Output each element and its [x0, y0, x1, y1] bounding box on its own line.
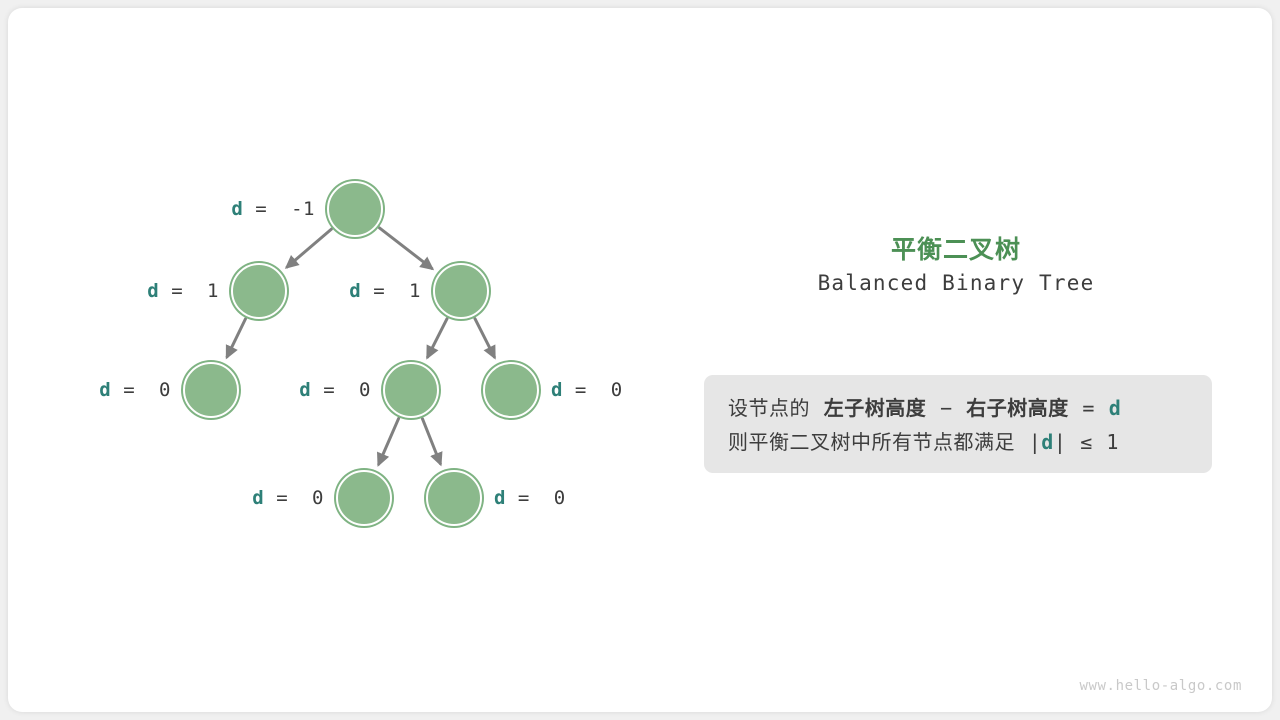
node-balance-factor-label: d = 1: [147, 282, 219, 301]
constraint-prefix: 则平衡二叉树中所有节点都满足: [728, 430, 1015, 454]
tree-node[interactable]: [433, 263, 489, 319]
node-label-variable: d: [349, 280, 361, 302]
panel-subtitle: Balanced Binary Tree: [700, 271, 1212, 295]
node-label-variable: d: [299, 379, 311, 401]
tree-node[interactable]: [426, 470, 482, 526]
less-equal-sign: ≤: [1080, 430, 1093, 454]
node-label-variable: d: [551, 379, 563, 401]
node-label-equals: =: [171, 280, 183, 302]
node-label-variable: d: [147, 280, 159, 302]
d-variable-2: d: [1041, 430, 1054, 454]
node-balance-factor-label: d = 0: [252, 489, 324, 508]
tree-node[interactable]: [231, 263, 287, 319]
d-variable-1: d: [1109, 396, 1122, 420]
definition-prefix: 设节点的: [728, 396, 810, 420]
panel-title: 平衡二叉树: [700, 230, 1212, 266]
node-label-variable: d: [252, 487, 264, 509]
node-label-value: 0: [312, 487, 324, 509]
description-panel: 平衡二叉树 Balanced Binary Tree 设节点的 左子树高度 − …: [700, 8, 1272, 712]
tree-node[interactable]: [327, 181, 383, 237]
node-balance-factor-label: d = 1: [349, 282, 421, 301]
node-balance-factor-label: d = 0: [299, 381, 371, 400]
node-label-equals: =: [575, 379, 587, 401]
node-label-value: 1: [207, 280, 219, 302]
tree-node[interactable]: [336, 470, 392, 526]
definition-line-1: 设节点的 左子树高度 − 右子树高度 = d: [728, 391, 1188, 425]
right-subtree-height-term: 右子树高度: [966, 396, 1069, 420]
tree-edge: [380, 228, 432, 268]
tree-edge: [379, 418, 399, 464]
tree-edge: [475, 319, 494, 357]
watermark: www.hello-algo.com: [1079, 678, 1242, 694]
node-label-value: 0: [359, 379, 371, 401]
content-card: d = -1d = 1d = 1d = 0d = 0d = 0d = 0d = …: [8, 8, 1272, 712]
binary-tree-diagram: d = -1d = 1d = 1d = 0d = 0d = 0d = 0d = …: [8, 8, 668, 712]
screenshot-root: d = -1d = 1d = 1d = 0d = 0d = 0d = 0d = …: [0, 0, 1280, 720]
node-balance-factor-label: d = 0: [99, 381, 171, 400]
constraint-value: 1: [1106, 430, 1119, 454]
node-label-equals: =: [518, 487, 530, 509]
node-label-value: 0: [554, 487, 566, 509]
left-subtree-height-term: 左子树高度: [824, 396, 927, 420]
definition-info-box: 设节点的 左子树高度 − 右子树高度 = d 则平衡二叉树中所有节点都满足 |d…: [704, 375, 1212, 473]
tree-node[interactable]: [383, 362, 439, 418]
tree-edge: [227, 319, 245, 357]
node-label-variable: d: [494, 487, 506, 509]
tree-edges-layer: [8, 8, 668, 712]
node-balance-factor-label: d = 0: [494, 489, 566, 508]
tree-node[interactable]: [483, 362, 539, 418]
tree-edge: [422, 419, 440, 464]
node-label-value: 1: [409, 280, 421, 302]
node-label-equals: =: [123, 379, 135, 401]
abs-bar-open: |: [1029, 430, 1042, 454]
definition-line-2: 则平衡二叉树中所有节点都满足 |d| ≤ 1: [728, 425, 1188, 459]
node-label-equals: =: [255, 198, 267, 220]
node-label-equals: =: [373, 280, 385, 302]
node-label-variable: d: [99, 379, 111, 401]
node-label-value: 0: [159, 379, 171, 401]
abs-bar-close: |: [1054, 430, 1067, 454]
tree-edge: [428, 319, 447, 357]
minus-sign: −: [940, 396, 953, 420]
tree-node[interactable]: [183, 362, 239, 418]
node-label-value: 0: [611, 379, 623, 401]
node-label-equals: =: [276, 487, 288, 509]
node-balance-factor-label: d = 0: [551, 381, 623, 400]
tree-edge: [287, 229, 331, 267]
node-balance-factor-label: d = -1: [231, 200, 315, 219]
node-label-variable: d: [231, 198, 243, 220]
equals-sign: =: [1082, 396, 1095, 420]
node-label-value: -1: [291, 198, 315, 220]
node-label-equals: =: [323, 379, 335, 401]
